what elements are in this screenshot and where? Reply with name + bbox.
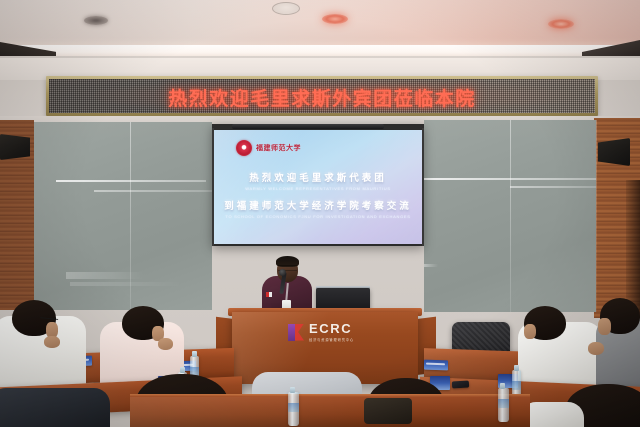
water-bottle [288, 392, 299, 426]
slide-logo: 福建师范大学 [236, 140, 301, 156]
slide-logo-text: 福建师范大学 [256, 143, 301, 153]
glass-wall-left [34, 122, 212, 310]
desk-front-row [130, 396, 530, 427]
screen-edge-left [212, 128, 214, 246]
screen-edge-right [422, 128, 424, 246]
ceiling-downlight-icon [84, 16, 108, 25]
glass-rail [510, 186, 596, 188]
audience-right-1-face [524, 324, 536, 339]
glass-wall-right [424, 120, 596, 312]
smoke-detector-icon [272, 2, 300, 15]
ecrc-brand-subtext: 经济与资源管理研究中心 [309, 337, 354, 342]
mobile-phone[interactable] [452, 381, 469, 389]
audience-left-2-hand [158, 338, 173, 350]
glass-rail [424, 178, 596, 180]
glass-seam [510, 120, 511, 312]
audience-right-2-hand [588, 342, 604, 355]
presenter-flag-pin-icon [266, 292, 272, 297]
wall-speaker-icon [598, 138, 630, 166]
microphone-head-icon [279, 269, 286, 276]
slide-body: 热烈欢迎毛里求斯代表团 WARMLY WELCOME REPRESENTATIV… [214, 170, 422, 219]
slide-line1-en: WARMLY WELCOME REPRESENTATIVES FROM MAUR… [214, 186, 422, 191]
ceiling-downlight-icon [548, 19, 574, 29]
name-card [424, 360, 448, 371]
led-banner-text: 热烈欢迎毛里求斯外宾团莅临本院 [168, 84, 476, 111]
ceiling-downlight-icon [322, 14, 348, 24]
led-banner-panel: 热烈欢迎毛里求斯外宾团莅临本院 [49, 79, 595, 113]
glass-seam [596, 120, 597, 312]
slide-line2-en: TO SCHOOL OF ECONOMICS FJNU FOR INVESTIG… [214, 214, 422, 219]
projection-screen-roller [232, 124, 384, 129]
conference-room-photo: 热烈欢迎毛里求斯外宾团莅临本院 福建师范大学 热烈欢迎毛里求斯代表团 W [0, 0, 640, 427]
glass-reflection [66, 272, 144, 279]
projection-screen: 福建师范大学 热烈欢迎毛里求斯代表团 WARMLY WELCOME REPRES… [214, 130, 422, 244]
ecrc-mark-icon [288, 324, 304, 341]
ecrc-brand-text: ECRC [309, 322, 354, 335]
led-banner-frame: 热烈欢迎毛里求斯外宾团莅临本院 [46, 76, 598, 116]
audience-left-1-hand [44, 336, 60, 348]
bag[interactable] [364, 398, 412, 424]
wall-speaker-icon [0, 134, 30, 160]
glass-rail [94, 190, 212, 192]
university-emblem-icon [236, 140, 252, 156]
audience-left-3-body [0, 388, 110, 427]
podium-brand-logo: ECRC 经济与资源管理研究中心 [288, 322, 354, 342]
water-bottle [498, 388, 509, 422]
glass-rail [56, 180, 206, 182]
glass-reflection [424, 264, 438, 267]
glass-reflection [70, 282, 182, 286]
slide-line2-cn: 到福建师范大学经济学院考察交流 [214, 198, 422, 212]
slide-line1-cn: 热烈欢迎毛里求斯代表团 [214, 170, 422, 184]
desk-front-edge [130, 394, 530, 397]
audience-right-2-face [598, 318, 611, 335]
